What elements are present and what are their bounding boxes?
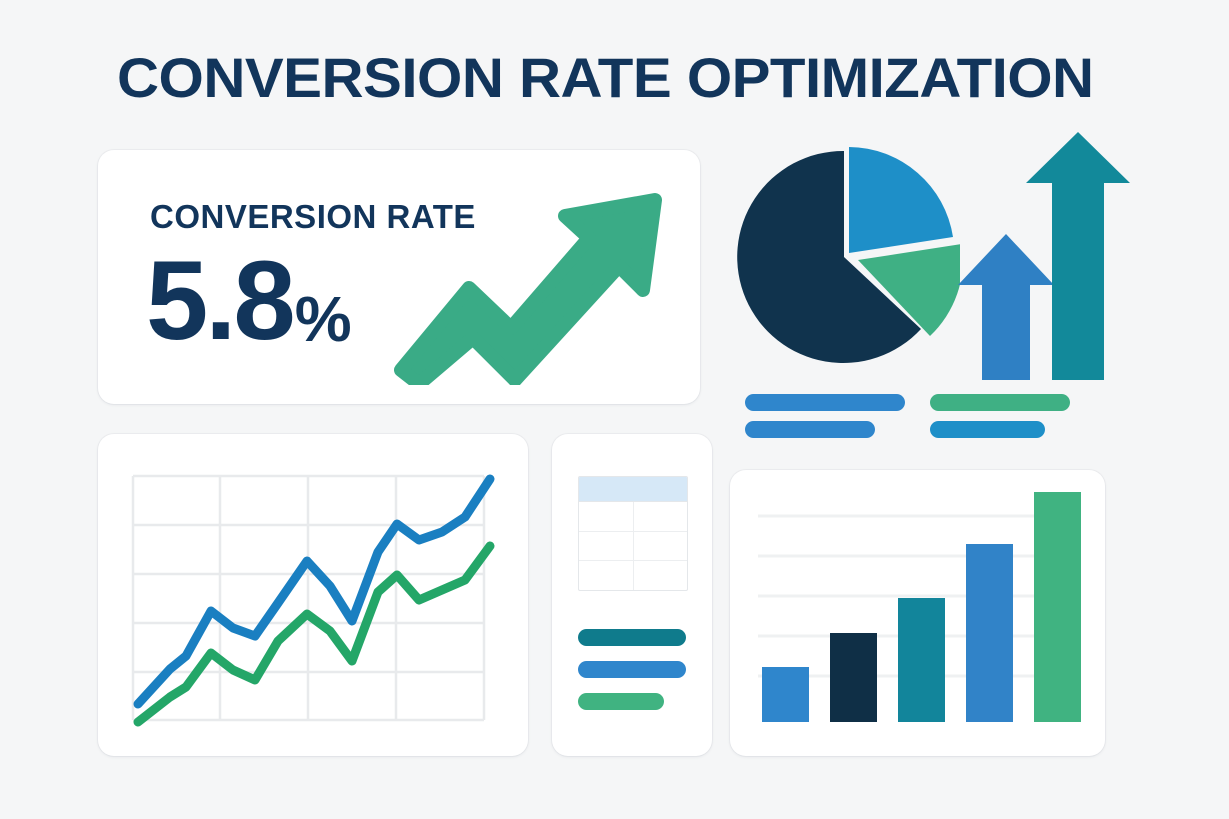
kpi-value-group: 5.8 %: [146, 245, 352, 357]
legend-bar-3: [745, 421, 875, 438]
infographic-canvas: CONVERSION RATE OPTIMIZATION CONVERSION …: [0, 0, 1229, 819]
pie-chart-icon: [735, 145, 960, 375]
list-bar-1: [578, 629, 686, 646]
list-bar-2: [578, 661, 686, 678]
table-header-row: [579, 477, 687, 502]
bar-2: [830, 633, 877, 722]
table-cell: [579, 502, 634, 531]
bar-3: [898, 598, 945, 722]
trending-up-arrow-icon: [393, 180, 678, 385]
legend-bar-2: [930, 394, 1070, 411]
legend-bar-1: [745, 394, 905, 411]
data-table-panel: [552, 434, 712, 756]
conversion-rate-kpi-card: CONVERSION RATE 5.8 %: [98, 150, 700, 404]
list-bar-3: [578, 693, 664, 710]
table-row: [579, 561, 687, 590]
bar-4: [966, 544, 1013, 722]
kpi-value-number: 5.8: [146, 245, 293, 357]
legend-bar-4: [930, 421, 1045, 438]
table-cell: [579, 532, 634, 561]
trend-line-chart-panel: [98, 434, 528, 756]
table-cell: [634, 561, 688, 590]
bar-chart-bars: [762, 492, 1081, 722]
table-row: [579, 502, 687, 532]
bar-5: [1034, 492, 1081, 722]
performance-bar-chart-panel: [730, 470, 1105, 756]
bar-1: [762, 667, 809, 722]
table-cell: [579, 561, 634, 590]
growth-arrows-icon: [950, 130, 1135, 380]
line-chart: [98, 434, 528, 756]
bar-chart: [730, 470, 1105, 756]
kpi-value-unit: %: [295, 287, 352, 351]
table-cell: [634, 532, 688, 561]
table-cell: [634, 502, 688, 531]
table-row: [579, 532, 687, 562]
mini-data-table: [578, 476, 688, 591]
page-title: CONVERSION RATE OPTIMIZATION: [117, 47, 1094, 109]
